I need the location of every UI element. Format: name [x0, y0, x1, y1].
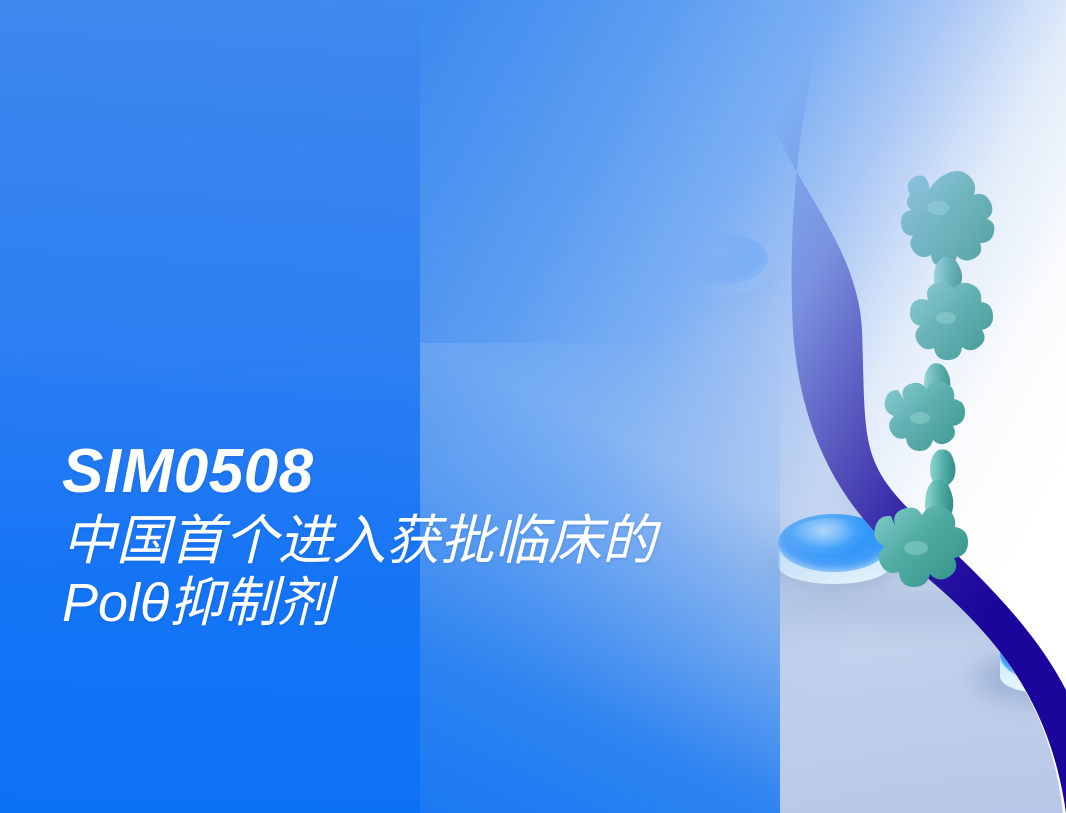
subtitle-line-1: 中国首个进入获批临床的: [62, 511, 656, 571]
product-code-title: SIM0508: [62, 437, 656, 507]
subtitle-line-2: Polθ抑制剂: [62, 573, 656, 633]
headline-block: SIM0508 中国首个进入获批临床的 Polθ抑制剂: [62, 437, 656, 633]
product-key-visual-poster: SIM0508 中国首个进入获批临床的 Polθ抑制剂: [0, 0, 1066, 813]
brand-blue-left-overlay: [0, 0, 420, 813]
